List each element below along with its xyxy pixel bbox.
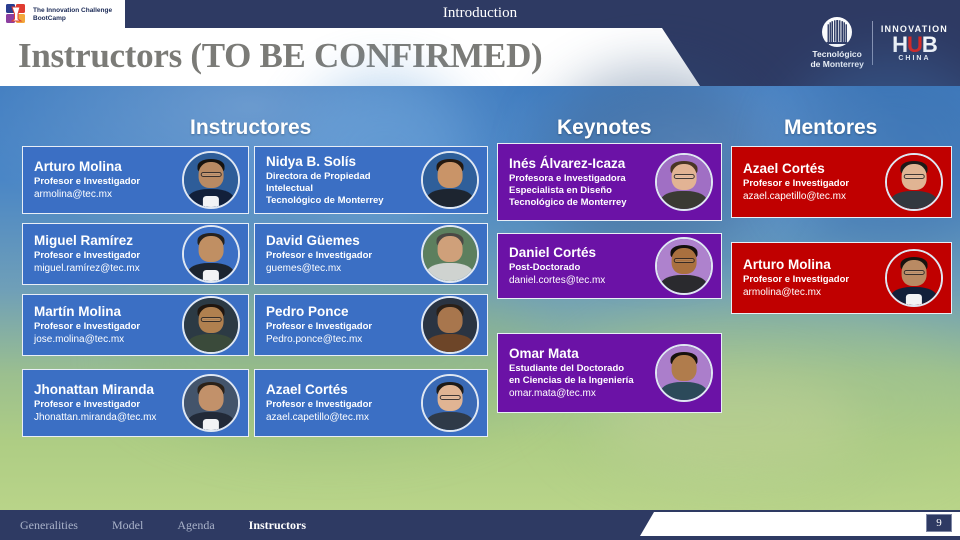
card-text: Martín Molina Profesor e Investigador jo… — [23, 303, 182, 347]
avatar — [421, 374, 479, 432]
person-role: Profesora e Investigadora — [509, 173, 655, 185]
person-role-2: Intelectual — [266, 183, 421, 195]
person-name: Nidya B. Solís — [266, 153, 421, 170]
nav-item-generalities[interactable]: Generalities — [20, 518, 78, 533]
person-name: Arturo Molina — [34, 158, 182, 175]
keynote-card[interactable]: Inés Álvarez-Icaza Profesora e Investiga… — [497, 143, 722, 221]
person-name: Jhonattan Miranda — [34, 381, 182, 398]
nav-item-agenda[interactable]: Agenda — [177, 518, 214, 533]
person-name: Azael Cortés — [743, 160, 885, 177]
person-email: Jhonattan.miranda@tec.mx — [34, 411, 182, 425]
slide-navigation: Generalities Model Agenda Instructors — [20, 510, 306, 540]
avatar — [655, 344, 713, 402]
card-text: Pedro Ponce Profesor e Investigador Pedr… — [255, 303, 421, 347]
person-email: miguel.ramírez@tec.mx — [34, 262, 182, 276]
avatar — [182, 374, 240, 432]
person-role: Profesor e Investigador — [34, 250, 182, 262]
person-role: Post-Doctorado — [509, 262, 655, 274]
person-role: Directora de Propiedad — [266, 171, 421, 183]
person-role: Profesor e Investigador — [34, 176, 182, 188]
person-role-2: Especialista en Diseño — [509, 185, 655, 197]
instructor-card[interactable]: Nidya B. Solís Directora de Propiedad In… — [254, 146, 488, 214]
person-email: jose.molina@tec.mx — [34, 333, 182, 347]
card-text: Azael Cortés Profesor e Investigador aza… — [255, 381, 421, 425]
nav-item-model[interactable]: Model — [112, 518, 143, 533]
person-name: Martín Molina — [34, 303, 182, 320]
avatar — [182, 225, 240, 283]
avatar — [421, 225, 479, 283]
avatar — [421, 151, 479, 209]
footer-accent-shape — [640, 512, 960, 536]
instructor-card[interactable]: Jhonattan Miranda Profesor e Investigado… — [22, 369, 249, 437]
avatar — [655, 237, 713, 295]
card-text: Jhonattan Miranda Profesor e Investigado… — [23, 381, 182, 425]
person-role: Profesor e Investigador — [34, 399, 182, 411]
instructor-card[interactable]: Pedro Ponce Profesor e Investigador Pedr… — [254, 294, 488, 356]
card-text: Daniel Cortés Post-Doctorado daniel.cort… — [498, 244, 655, 288]
mentor-card[interactable]: Arturo Molina Profesor e Investigador ar… — [731, 242, 952, 314]
instructor-card[interactable]: Arturo Molina Profesor e Investigador ar… — [22, 146, 249, 214]
person-role: Profesor e Investigador — [266, 250, 421, 262]
person-email: armolina@tec.mx — [34, 188, 182, 202]
card-text: Omar Mata Estudiante del Doctorado en Ci… — [498, 345, 655, 401]
ihub-letter-b: B — [922, 32, 937, 57]
person-name: Azael Cortés — [266, 381, 421, 398]
header-bar: The Innovation Challenge BootCamp Introd… — [0, 0, 960, 86]
instructor-card[interactable]: Miguel Ramírez Profesor e Investigador m… — [22, 223, 249, 285]
card-text: Nidya B. Solís Directora de Propiedad In… — [255, 153, 421, 207]
person-role-2: en Ciencias de la Ingeniería — [509, 375, 655, 387]
person-email: armolina@tec.mx — [743, 286, 885, 300]
instructor-card[interactable]: Azael Cortés Profesor e Investigador aza… — [254, 369, 488, 437]
page-number-badge: 9 — [926, 514, 952, 532]
card-text: Azael Cortés Profesor e Investigador aza… — [732, 160, 885, 204]
person-affiliation: Tecnológico de Monterrey — [509, 197, 655, 209]
card-text: Inés Álvarez-Icaza Profesora e Investiga… — [498, 155, 655, 209]
avatar — [182, 296, 240, 354]
person-role: Profesor e Investigador — [743, 178, 885, 190]
nav-item-instructors[interactable]: Instructors — [249, 518, 306, 533]
tec-line-1: Tecnológico — [812, 49, 861, 59]
page-title: Instructors (TO BE CONFIRMED) — [18, 30, 658, 82]
instructor-card[interactable]: David Güemes Profesor e Investigador gue… — [254, 223, 488, 285]
person-role: Profesor e Investigador — [266, 321, 421, 333]
person-email: omar.mata@tec.mx — [509, 387, 655, 401]
avatar — [182, 151, 240, 209]
slide: The Innovation Challenge BootCamp Introd… — [0, 0, 960, 540]
person-role: Profesor e Investigador — [743, 274, 885, 286]
person-role: Profesor e Investigador — [34, 321, 182, 333]
card-text: Arturo Molina Profesor e Investigador ar… — [23, 158, 182, 202]
tec-emblem-icon — [822, 17, 852, 47]
person-email: azael.capetillo@tec.mx — [743, 190, 885, 204]
ihub-letter-u: U — [907, 32, 922, 57]
person-email: daniel.cortes@tec.mx — [509, 274, 655, 288]
card-text: Miguel Ramírez Profesor e Investigador m… — [23, 232, 182, 276]
ihub-wordmark: HUB — [892, 34, 937, 55]
person-email: azael.capetillo@tec.mx — [266, 411, 421, 425]
person-name: Miguel Ramírez — [34, 232, 182, 249]
person-name: Omar Mata — [509, 345, 655, 362]
column-heading-keynotes: Keynotes — [557, 116, 652, 140]
person-name: David Güemes — [266, 232, 421, 249]
avatar — [421, 296, 479, 354]
person-name: Daniel Cortés — [509, 244, 655, 261]
avatar — [885, 153, 943, 211]
person-role: Estudiante del Doctorado — [509, 363, 655, 375]
card-text: Arturo Molina Profesor e Investigador ar… — [732, 256, 885, 300]
column-heading-mentores: Mentores — [784, 116, 877, 140]
column-heading-instructores: Instructores — [190, 116, 311, 140]
person-affiliation: Tecnológico de Monterrey — [266, 195, 421, 207]
person-name: Arturo Molina — [743, 256, 885, 273]
mentor-card[interactable]: Azael Cortés Profesor e Investigador aza… — [731, 146, 952, 218]
avatar — [885, 249, 943, 307]
ihub-letter-h: H — [892, 32, 907, 57]
person-name: Pedro Ponce — [266, 303, 421, 320]
card-text: David Güemes Profesor e Investigador gue… — [255, 232, 421, 276]
person-email: Pedro.ponce@tec.mx — [266, 333, 421, 347]
person-email: guemes@tec.mx — [266, 262, 421, 276]
person-role: Profesor e Investigador — [266, 399, 421, 411]
keynote-card[interactable]: Omar Mata Estudiante del Doctorado en Ci… — [497, 333, 722, 413]
instructor-card[interactable]: Martín Molina Profesor e Investigador jo… — [22, 294, 249, 356]
person-name: Inés Álvarez-Icaza — [509, 155, 655, 172]
avatar — [655, 153, 713, 211]
keynote-card[interactable]: Daniel Cortés Post-Doctorado daniel.cort… — [497, 233, 722, 299]
